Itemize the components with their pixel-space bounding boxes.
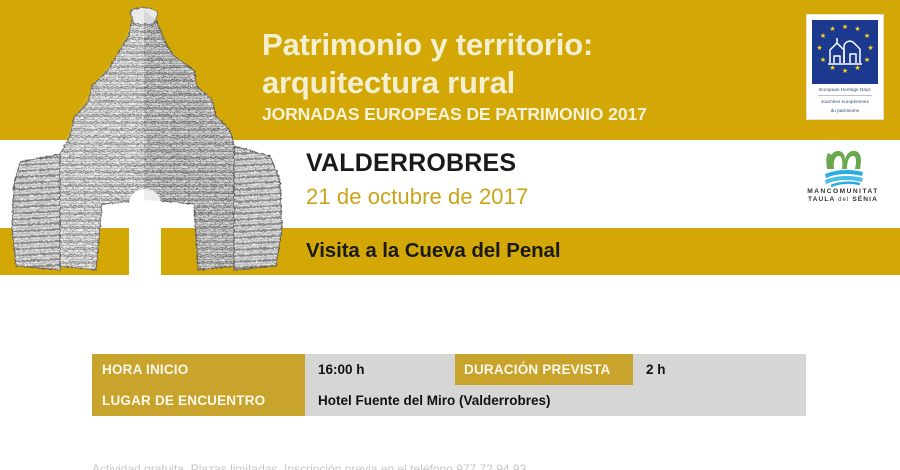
town-name: VALDERROBRES <box>306 149 528 178</box>
title-line-1: Patrimonio y territorio: <box>262 26 732 64</box>
activity-name: Visita a la Cueva del Penal <box>306 239 560 263</box>
title-subtitle: JORNADAS EUROPEAS DE PATRIMONIO 2017 <box>262 104 732 125</box>
manco-taula: TAULA <box>808 196 835 203</box>
event-info-table: HORA INICIO 16:00 h DURACIÓN PREVISTA 2 … <box>92 354 806 416</box>
ehd-caption-fr-line2: du patrimoine <box>811 108 879 114</box>
label-lugar-de-encuentro: LUGAR DE ENCUENTRO <box>92 385 305 416</box>
dry-stone-hut-illustration <box>0 4 290 276</box>
value-duracion-prevista: 2 h <box>633 354 806 385</box>
label-hora-inicio: HORA INICIO <box>92 354 305 385</box>
table-row: HORA INICIO 16:00 h DURACIÓN PREVISTA 2 … <box>92 354 806 385</box>
value-hora-inicio: 16:00 h <box>305 354 455 385</box>
poster-canvas: Patrimonio y territorio: arquitectura ru… <box>0 0 900 470</box>
poster-title-block: Patrimonio y territorio: arquitectura ru… <box>262 26 732 125</box>
eu-flag-icon: ★ ★ ★ ★ ★ ★ ★ ★ ★ ★ ★ ★ <box>812 20 878 84</box>
footer-note-text: Actividad gratuita. Plazas limitadas. In… <box>92 462 806 470</box>
mancomunitat-logo: MANCOMUNITAT TAULA del SÉNIA <box>793 142 893 212</box>
value-lugar-de-encuentro: Hotel Fuente del Miro (Valderrobres) <box>305 385 806 416</box>
mancomunitat-name-line2: TAULA del SÉNIA <box>793 196 893 203</box>
ehd-caption-divider <box>818 95 872 96</box>
monument-glyph-icon <box>826 33 864 71</box>
footer-note-clipped: Actividad gratuita. Plazas limitadas. In… <box>92 462 806 470</box>
mancomunitat-mark-icon <box>793 142 893 188</box>
title-line-2: arquitectura rural <box>262 64 732 102</box>
label-duracion-prevista: DURACIÓN PREVISTA <box>455 354 633 385</box>
manco-del: del <box>838 197 849 203</box>
ehd-caption-en: European Heritage Days <box>811 87 879 93</box>
event-date: 21 de octubre de 2017 <box>306 184 528 210</box>
town-date-block: VALDERROBRES 21 de octubre de 2017 <box>306 149 528 210</box>
manco-senia: SÉNIA <box>852 196 878 203</box>
ehd-caption-fr-line1: Journées européennes <box>811 99 879 105</box>
mancomunitat-name-line1: MANCOMUNITAT <box>793 188 893 195</box>
european-heritage-days-logo: ★ ★ ★ ★ ★ ★ ★ ★ ★ ★ ★ ★ Eur <box>806 14 884 120</box>
table-row: LUGAR DE ENCUENTRO Hotel Fuente del Miro… <box>92 385 806 416</box>
